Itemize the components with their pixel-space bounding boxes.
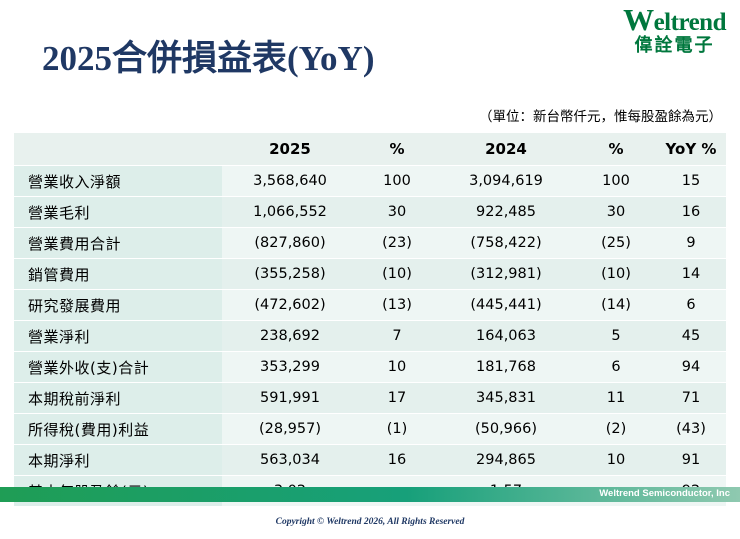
cell-value-2024: 181,768 [436, 352, 576, 383]
table-row: 本期稅前淨利 591,991 17 345,831 11 71 [14, 383, 726, 414]
cell-value-2024: 294,865 [436, 445, 576, 476]
cell-pct-2025: 10 [358, 352, 436, 383]
row-label: 所得稅(費用)利益 [14, 414, 222, 445]
table-row: 營業毛利 1,066,552 30 922,485 30 16 [14, 197, 726, 228]
cell-pct-2024: 10 [576, 445, 656, 476]
cell-yoy: 9 [656, 228, 726, 259]
cell-pct-2024: 6 [576, 352, 656, 383]
row-label: 營業費用合計 [14, 228, 222, 259]
cell-value-2025: (827,860) [222, 228, 358, 259]
cell-pct-2025: 16 [358, 445, 436, 476]
cell-pct-2025: (1) [358, 414, 436, 445]
cell-value-2025: 3,568,640 [222, 166, 358, 197]
cell-yoy: 71 [656, 383, 726, 414]
cell-value-2025: (28,957) [222, 414, 358, 445]
column-header-yoy: YoY % [656, 133, 726, 166]
column-header-pct-2024: % [576, 133, 656, 166]
page-title: 2025合併損益表(YoY) [42, 30, 374, 81]
cell-value-2025: 591,991 [222, 383, 358, 414]
cell-value-2024: (758,422) [436, 228, 576, 259]
cell-value-2025: 353,299 [222, 352, 358, 383]
cell-pct-2025: (10) [358, 259, 436, 290]
cell-value-2024: (50,966) [436, 414, 576, 445]
cell-yoy: 6 [656, 290, 726, 321]
cell-yoy: 15 [656, 166, 726, 197]
cell-value-2025: 238,692 [222, 321, 358, 352]
row-label: 研究發展費用 [14, 290, 222, 321]
cell-pct-2024: (10) [576, 259, 656, 290]
row-label: 營業外收(支)合計 [14, 352, 222, 383]
cell-yoy: 16 [656, 197, 726, 228]
cell-value-2024: (445,441) [436, 290, 576, 321]
financial-table: 2025 % 2024 % YoY % 營業收入淨額 3,568,640 100… [14, 133, 726, 506]
cell-value-2025: (472,602) [222, 290, 358, 321]
logo-initial: W [623, 2, 654, 37]
cell-value-2025: 563,034 [222, 445, 358, 476]
row-label: 本期淨利 [14, 445, 222, 476]
financial-table-container: 2025 % 2024 % YoY % 營業收入淨額 3,568,640 100… [14, 133, 726, 506]
cell-value-2024: 345,831 [436, 383, 576, 414]
cell-pct-2024: 100 [576, 166, 656, 197]
column-header-blank [14, 133, 222, 166]
cell-pct-2024: (14) [576, 290, 656, 321]
row-label: 營業收入淨額 [14, 166, 222, 197]
cell-value-2024: 922,485 [436, 197, 576, 228]
cell-value-2025: (355,258) [222, 259, 358, 290]
cell-pct-2025: 17 [358, 383, 436, 414]
cell-value-2024: 164,063 [436, 321, 576, 352]
row-label: 本期稅前淨利 [14, 383, 222, 414]
cell-yoy: 45 [656, 321, 726, 352]
table-row: 營業外收(支)合計 353,299 10 181,768 6 94 [14, 352, 726, 383]
column-header-pct-2025: % [358, 133, 436, 166]
footer-company-name: Weltrend Semiconductor, Inc [599, 488, 730, 499]
table-row: 研究發展費用 (472,602) (13) (445,441) (14) 6 [14, 290, 726, 321]
cell-value-2024: (312,981) [436, 259, 576, 290]
cell-yoy: (43) [656, 414, 726, 445]
cell-pct-2025: (13) [358, 290, 436, 321]
table-row: 營業費用合計 (827,860) (23) (758,422) (25) 9 [14, 228, 726, 259]
table-header-row: 2025 % 2024 % YoY % [14, 133, 726, 166]
row-label: 營業毛利 [14, 197, 222, 228]
cell-pct-2025: (23) [358, 228, 436, 259]
logo-wordmark: Weltrend [623, 4, 726, 35]
table-row: 本期淨利 563,034 16 294,865 10 91 [14, 445, 726, 476]
row-label: 營業淨利 [14, 321, 222, 352]
cell-pct-2024: (2) [576, 414, 656, 445]
cell-pct-2024: 11 [576, 383, 656, 414]
column-header-2024: 2024 [436, 133, 576, 166]
table-row: 營業淨利 238,692 7 164,063 5 45 [14, 321, 726, 352]
copyright-text: Copyright © Weltrend 2026, All Rights Re… [0, 517, 740, 527]
cell-pct-2024: 30 [576, 197, 656, 228]
table-row: 銷管費用 (355,258) (10) (312,981) (10) 14 [14, 259, 726, 290]
row-label: 銷管費用 [14, 259, 222, 290]
cell-yoy: 94 [656, 352, 726, 383]
cell-pct-2025: 30 [358, 197, 436, 228]
cell-pct-2024: (25) [576, 228, 656, 259]
table-row: 營業收入淨額 3,568,640 100 3,094,619 100 15 [14, 166, 726, 197]
logo-chinese-name: 偉詮電子 [623, 37, 726, 55]
footer-bar: Weltrend Semiconductor, Inc [0, 487, 740, 502]
cell-pct-2024: 5 [576, 321, 656, 352]
table-body: 營業收入淨額 3,568,640 100 3,094,619 100 15 營業… [14, 166, 726, 507]
cell-value-2024: 3,094,619 [436, 166, 576, 197]
cell-value-2025: 1,066,552 [222, 197, 358, 228]
cell-pct-2025: 100 [358, 166, 436, 197]
cell-yoy: 14 [656, 259, 726, 290]
table-row: 所得稅(費用)利益 (28,957) (1) (50,966) (2) (43) [14, 414, 726, 445]
logo-wordmark-rest: eltrend [654, 9, 726, 36]
unit-note: （單位：新台幣仟元，惟每股盈餘為元） [479, 105, 722, 125]
cell-yoy: 91 [656, 445, 726, 476]
cell-pct-2025: 7 [358, 321, 436, 352]
column-header-2025: 2025 [222, 133, 358, 166]
company-logo: Weltrend 偉詮電子 [623, 4, 726, 55]
table-header: 2025 % 2024 % YoY % [14, 133, 726, 166]
